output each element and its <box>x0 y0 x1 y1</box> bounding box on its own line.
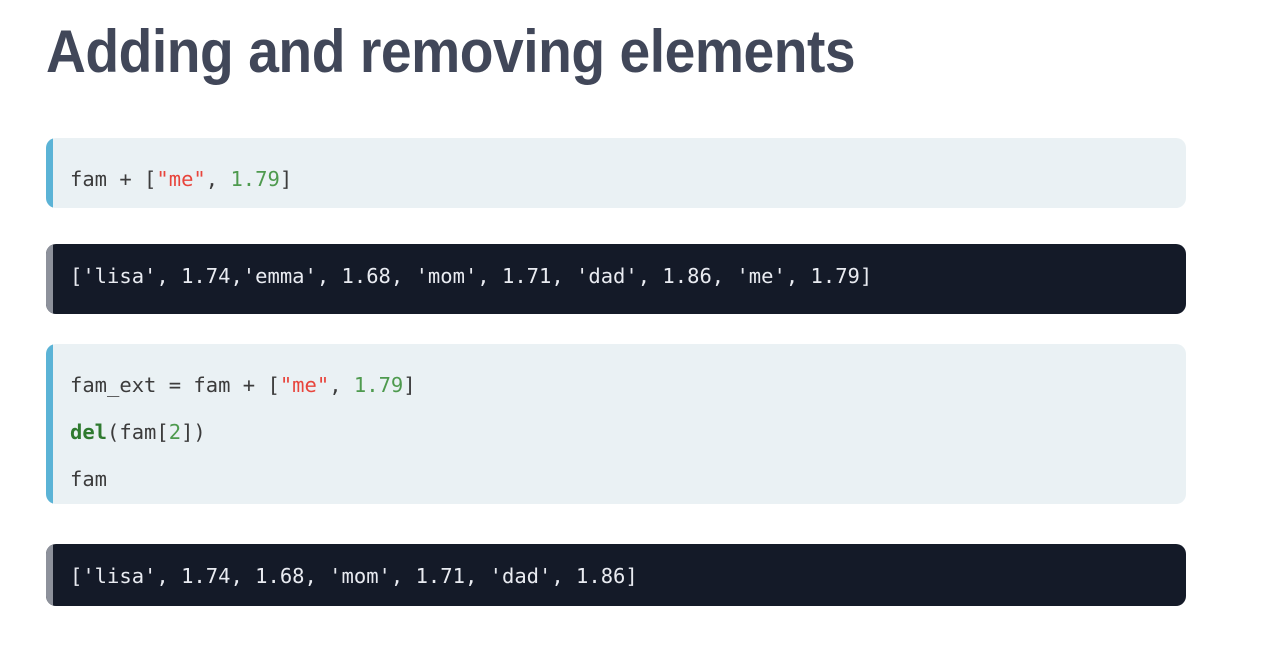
token-number: 1.79 <box>354 373 403 397</box>
page-title: Adding and removing elements <box>46 22 855 82</box>
token-plain: ] <box>280 167 292 191</box>
token-plain: ['lisa', 1.74, 1.68, 'mom', 1.71, 'dad',… <box>70 564 638 588</box>
output-block-body-1: ['lisa', 1.74,'emma', 1.68, 'mom', 1.71,… <box>46 244 1186 308</box>
code-line: ['lisa', 1.74, 1.68, 'mom', 1.71, 'dad',… <box>70 556 1164 596</box>
token-plain: fam + [ <box>70 167 156 191</box>
output-block-1: ['lisa', 1.74,'emma', 1.68, 'mom', 1.71,… <box>46 244 1186 314</box>
token-plain: ['lisa', 1.74,'emma', 1.68, 'mom', 1.71,… <box>70 264 872 288</box>
token-number: 2 <box>169 420 181 444</box>
output-block-2: ['lisa', 1.74, 1.68, 'mom', 1.71, 'dad',… <box>46 544 1186 606</box>
output-accent-bar <box>46 244 53 314</box>
code-block-body-1: fam + ["me", 1.79] <box>46 138 1186 208</box>
token-plain: , <box>206 167 231 191</box>
code-line: ['lisa', 1.74,'emma', 1.68, 'mom', 1.71,… <box>70 256 1164 296</box>
code-accent-bar <box>46 344 53 504</box>
code-line: fam <box>70 456 1164 503</box>
output-block-body-2: ['lisa', 1.74, 1.68, 'mom', 1.71, 'dad',… <box>46 544 1186 606</box>
code-block-body-2: fam_ext = fam + ["me", 1.79]del(fam[2])f… <box>46 344 1186 504</box>
token-number: 1.79 <box>230 167 279 191</box>
token-plain: ] <box>403 373 415 397</box>
token-string: "me" <box>156 167 205 191</box>
token-keyword: del <box>70 420 107 444</box>
code-line: fam_ext = fam + ["me", 1.79] <box>70 362 1164 409</box>
slide-root: Adding and removing elements fam + ["me"… <box>0 0 1262 666</box>
token-plain: ]) <box>181 420 206 444</box>
code-line: fam + ["me", 1.79] <box>70 156 1164 203</box>
token-plain: , <box>329 373 354 397</box>
token-string: "me" <box>280 373 329 397</box>
code-accent-bar <box>46 138 53 208</box>
token-plain: fam_ext = fam + [ <box>70 373 280 397</box>
token-plain: (fam[ <box>107 420 169 444</box>
token-plain: fam <box>70 467 107 491</box>
code-line: del(fam[2]) <box>70 409 1164 456</box>
code-block-input-2: fam_ext = fam + ["me", 1.79]del(fam[2])f… <box>46 344 1186 504</box>
output-accent-bar <box>46 544 53 606</box>
code-block-input-1: fam + ["me", 1.79] <box>46 138 1186 208</box>
